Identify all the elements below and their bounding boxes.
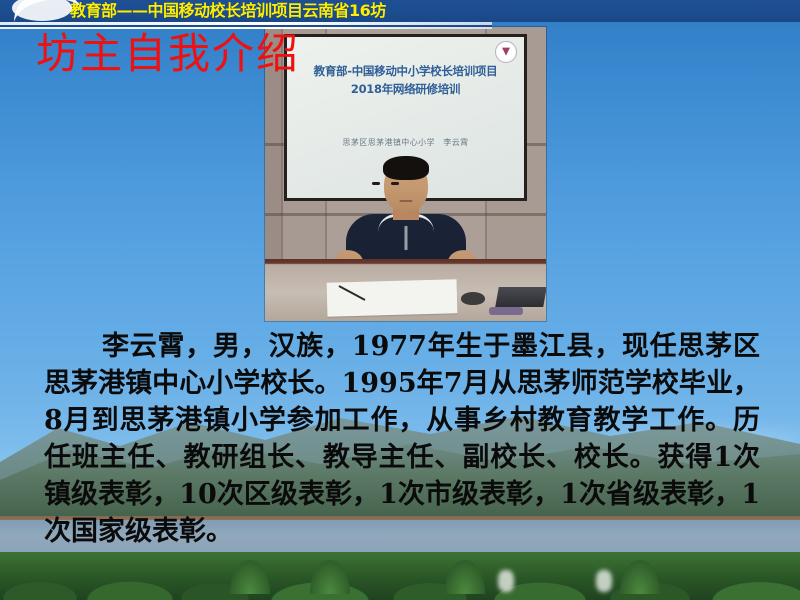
swoosh-logo-icon: [12, 0, 92, 22]
slide-canvas: 教育部——中国移动校长培训项目云南省16坊 坊主自我介绍 教育部-中国移动中小学…: [0, 0, 800, 600]
page-title: 坊主自我介绍: [36, 28, 300, 80]
slide-line-1: 教育部-中国移动中小学校长培训项目: [287, 63, 524, 79]
mouse-device: [461, 292, 485, 305]
light-flare: [596, 570, 612, 592]
header-divider: [0, 22, 492, 30]
desk-object: [489, 307, 523, 315]
foreground-vegetation: [0, 552, 800, 600]
paper-sheet: [327, 279, 458, 316]
slide-line-2: 2018年网络研修培训: [287, 81, 524, 97]
speaker-photo: 教育部-中国移动中小学校长培训项目 2018年网络研修培训 思茅区思茅港镇中心小…: [265, 27, 546, 321]
emblem-icon: [495, 41, 517, 63]
header-title: 教育部——中国移动校长培训项目云南省16坊: [70, 0, 386, 21]
laptop: [495, 287, 546, 307]
light-flare: [498, 570, 514, 592]
desk: [265, 259, 546, 321]
biography-paragraph: 李云霄，男，汉族，1977年生于墨江县，现任思茅区思茅港镇中心小学校长。1995…: [44, 328, 760, 550]
header-bar: 教育部——中国移动校长培训项目云南省16坊: [0, 0, 800, 22]
